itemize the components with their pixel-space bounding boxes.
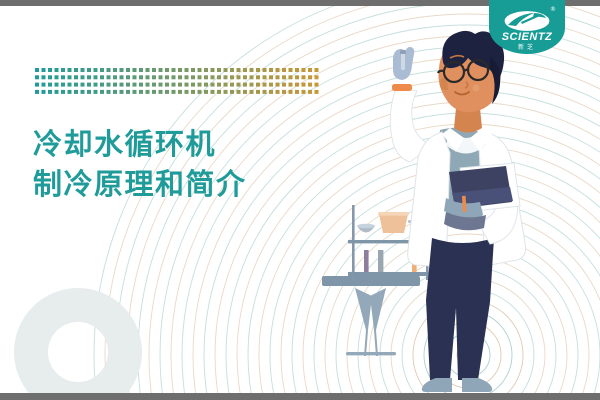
tan-tray <box>378 212 409 233</box>
poster-canvas: 冷却水循环机 制冷原理和简介 ® SCIENTZ 新芝 <box>0 0 600 400</box>
blue-grey-shoes <box>422 378 492 392</box>
laboratory-scientist-illustration <box>300 0 600 400</box>
logo-chinese-name: 新芝 <box>489 42 565 51</box>
clipboard-folder <box>449 166 513 209</box>
gloved-hand-holding-test-tube <box>392 47 414 91</box>
test-tube-grey <box>378 250 383 272</box>
scientz-logo[interactable]: ® SCIENTZ 新芝 <box>489 0 565 54</box>
registered-mark: ® <box>550 7 556 13</box>
page-title: 冷却水循环机 制冷原理和简介 <box>33 124 247 204</box>
scientist-figure <box>390 31 525 392</box>
navy-trousers <box>426 238 494 380</box>
headline-line-1: 冷却水循环机 <box>33 124 247 164</box>
dot-grid <box>35 68 320 99</box>
mixing-bowl <box>357 224 375 233</box>
test-tube-purple <box>364 250 369 272</box>
pedestal-table <box>322 276 420 356</box>
scientz-swoosh-icon <box>503 10 551 32</box>
headline-line-2: 制冷原理和简介 <box>33 164 247 204</box>
bottom-rule <box>0 393 600 400</box>
